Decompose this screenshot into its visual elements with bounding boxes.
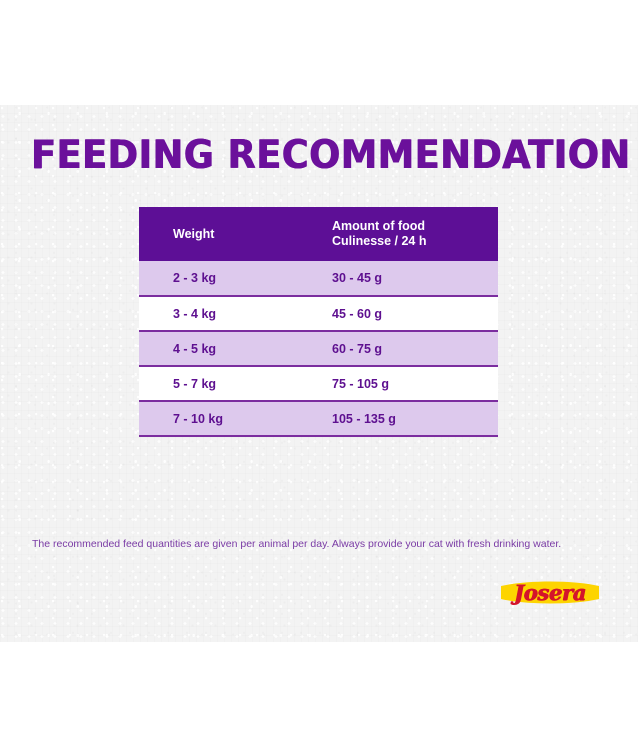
cell-weight: 3 - 4 kg [139,296,288,331]
column-header-amount: Amount of food Culinesse / 24 h [288,207,498,261]
table-body: 2 - 3 kg 30 - 45 g 3 - 4 kg 45 - 60 g 4 … [139,261,498,436]
table-row: 3 - 4 kg 45 - 60 g [139,296,498,331]
cell-weight-value: 4 - 5 kg [139,342,288,356]
cell-weight-value: 2 - 3 kg [139,271,288,285]
page-title: FEEDING RECOMMENDATION [31,133,631,179]
cell-amount-value: 60 - 75 g [288,342,498,356]
cell-weight-value: 3 - 4 kg [139,307,288,321]
table-header-row: Weight Amount of food Culinesse / 24 h [139,207,498,261]
table-row: 7 - 10 kg 105 - 135 g [139,401,498,436]
cell-weight: 4 - 5 kg [139,331,288,366]
cell-weight: 7 - 10 kg [139,401,288,436]
cell-weight-value: 7 - 10 kg [139,412,288,426]
table-row: 5 - 7 kg 75 - 105 g [139,366,498,401]
column-header-amount-line1: Amount of food [332,219,498,234]
footer-note: The recommended feed quantities are give… [32,537,602,551]
cell-amount-value: 105 - 135 g [288,412,498,426]
table-row: 2 - 3 kg 30 - 45 g [139,261,498,296]
cell-amount: 30 - 45 g [288,261,498,296]
table-row: 4 - 5 kg 60 - 75 g [139,331,498,366]
column-header-weight: Weight [139,207,288,261]
column-header-weight-label: Weight [139,227,288,242]
cell-weight: 2 - 3 kg [139,261,288,296]
josera-logo: Josera [497,577,603,608]
cell-amount: 105 - 135 g [288,401,498,436]
logo-wordmark: Josera [497,577,603,608]
table-header: Weight Amount of food Culinesse / 24 h [139,207,498,261]
cell-amount: 60 - 75 g [288,331,498,366]
cell-weight: 5 - 7 kg [139,366,288,401]
cell-amount: 75 - 105 g [288,366,498,401]
feeding-recommendation-table: Weight Amount of food Culinesse / 24 h 2… [139,207,498,437]
column-header-amount-wrap: Amount of food Culinesse / 24 h [288,219,498,249]
cell-amount: 45 - 60 g [288,296,498,331]
cell-amount-value: 30 - 45 g [288,271,498,285]
cell-weight-value: 5 - 7 kg [139,377,288,391]
cell-amount-value: 45 - 60 g [288,307,498,321]
column-header-amount-line2: Culinesse / 24 h [332,234,498,249]
cell-amount-value: 75 - 105 g [288,377,498,391]
